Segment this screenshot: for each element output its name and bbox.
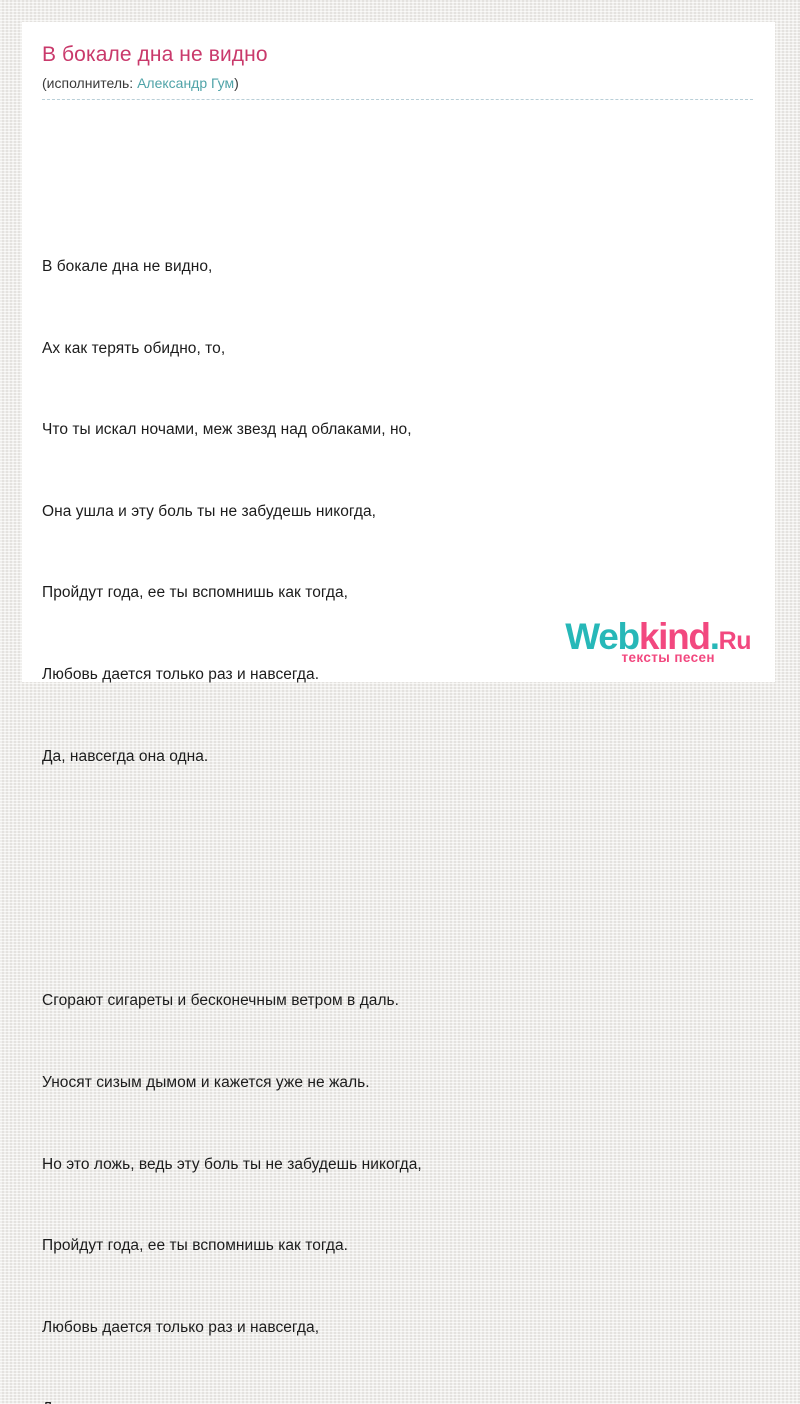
artist-prefix-label: (исполнитель: — [42, 75, 137, 91]
lyric-line: Любовь дается только раз и навсегда, — [42, 1314, 753, 1341]
lyric-line: Пройдут года, ее ты вспомнишь как тогда, — [42, 579, 753, 606]
header-divider — [42, 99, 753, 100]
page-canvas: В бокале дна не видно (исполнитель: Алек… — [0, 0, 800, 702]
lyric-line: В бокале дна не видно, — [42, 253, 753, 280]
lyric-line: Любовь дается только раз и навсегда. — [42, 661, 753, 688]
lyric-line: Но это ложь, ведь эту боль ты не забудеш… — [42, 1151, 753, 1178]
lyric-line: Она ушла и эту боль ты не забудешь никог… — [42, 498, 753, 525]
lyrics-text: В бокале дна не видно, Ах как терять оби… — [42, 117, 753, 1404]
lyrics-verse: В бокале дна не видно, Ах как терять оби… — [42, 199, 753, 825]
lyrics-content-card: В бокале дна не видно (исполнитель: Алек… — [22, 22, 775, 682]
lyrics-verse: Сгорают сигареты и бесконечным ветром в … — [42, 933, 753, 1404]
lyric-line: Да, навсегда она одна. — [42, 743, 753, 770]
lyric-line: Да, навсегда она одна. — [42, 1395, 753, 1404]
lyric-line: Что ты искал ночами, меж звезд над облак… — [42, 416, 753, 443]
site-logo[interactable]: Webkind.Ru тексты песен — [565, 618, 751, 665]
artist-byline: (исполнитель: Александр Гум) — [42, 74, 753, 92]
lyric-line: Сгорают сигареты и бесконечным ветром в … — [42, 987, 753, 1014]
card-inner: В бокале дна не видно (исполнитель: Алек… — [22, 22, 775, 1404]
page-title: В бокале дна не видно — [42, 42, 753, 68]
logo-part-ru: Ru — [719, 627, 751, 655]
lyric-line: Уносят сизым дымом и кажется уже не жаль… — [42, 1069, 753, 1096]
lyric-line: Ах как терять обидно, то, — [42, 335, 753, 362]
artist-suffix-label: ) — [234, 75, 239, 91]
artist-link[interactable]: Александр Гум — [137, 75, 234, 91]
lyric-line: Пройдут года, ее ты вспомнишь как тогда. — [42, 1232, 753, 1259]
